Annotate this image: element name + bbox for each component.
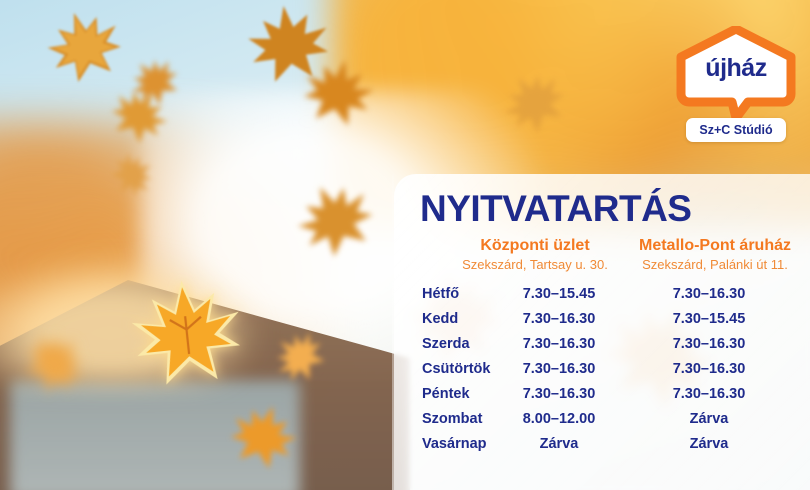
logo-wordmark: újház [674,54,798,83]
hours-metallo-pont: 7.30–16.30 [644,357,774,382]
hours-metallo-pont: 7.30–16.30 [644,282,774,307]
table-row: Szombat 8.00–12.00 Zárva [394,407,810,432]
hours-metallo-pont: Zárva [644,432,774,457]
banner-root: NYITVATARTÁS Központi üzlet Szekszárd, T… [0,0,810,490]
hours-central: 7.30–15.45 [494,282,624,307]
day-label: Szombat [422,407,482,432]
hours-central: 7.30–16.30 [494,332,624,357]
table-row: Csütörtök 7.30–16.30 7.30–16.30 [394,357,810,382]
day-label: Kedd [422,307,458,332]
table-row: Hétfő 7.30–15.45 7.30–16.30 [394,282,810,307]
hours-central: 7.30–16.30 [494,357,624,382]
day-label: Szerda [422,332,470,357]
maple-leaf-icon [238,0,339,94]
maple-leaf-icon [122,272,251,396]
hours-central: 7.30–16.30 [494,382,624,407]
logo-subtitle: Sz+C Stúdió [686,118,786,142]
hours-central: Zárva [494,432,624,457]
hours-metallo-pont: Zárva [644,407,774,432]
store-name: Központi üzlet [440,237,630,255]
hours-metallo-pont: 7.30–16.30 [644,332,774,357]
day-label: Péntek [422,382,470,407]
day-label: Hétfő [422,282,459,307]
table-row: Szerda 7.30–16.30 7.30–16.30 [394,332,810,357]
hours-central: 8.00–12.00 [494,407,624,432]
day-label: Csütörtök [422,357,490,382]
store-address: Szekszárd, Tartsay u. 30. [440,257,630,274]
page-title: NYITVATARTÁS [420,190,691,227]
opening-hours-table: Hétfő 7.30–15.45 7.30–16.30 Kedd 7.30–16… [394,282,810,457]
hours-metallo-pont: 7.30–15.45 [644,307,774,332]
hours-central: 7.30–16.30 [494,307,624,332]
ujhaz-logo[interactable]: újház Sz+C Stúdió [674,26,798,144]
store-header-central: Központi üzlet Szekszárd, Tartsay u. 30. [440,237,630,273]
store-name: Metallo-Pont áruház [620,237,810,255]
store-header-metallo-pont: Metallo-Pont áruház Szekszárd, Palánki ú… [620,237,810,273]
store-address: Szekszárd, Palánki út 11. [620,257,810,274]
table-row: Vasárnap Zárva Zárva [394,432,810,457]
day-label: Vasárnap [422,432,487,457]
table-row: Kedd 7.30–16.30 7.30–15.45 [394,307,810,332]
table-row: Péntek 7.30–16.30 7.30–16.30 [394,382,810,407]
hours-metallo-pont: 7.30–16.30 [644,382,774,407]
